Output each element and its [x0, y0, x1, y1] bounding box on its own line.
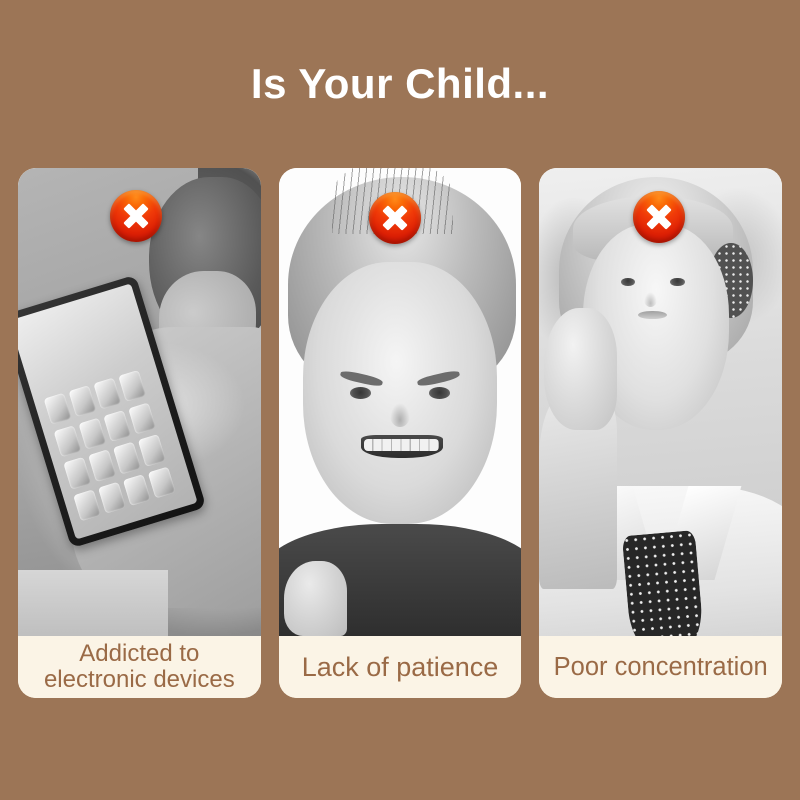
card-addicted-to-electronic-devices[interactable]: Addicted to electronic devices: [18, 168, 261, 698]
caption-label: Addicted to electronic devices: [18, 641, 261, 693]
card-clip: Addicted to electronic devices: [18, 168, 261, 698]
app-icon: [147, 466, 175, 498]
caption-bar: Poor concentration: [539, 636, 782, 698]
app-icon: [137, 434, 165, 466]
eye-left: [621, 278, 636, 287]
eyebrow-right: [417, 370, 461, 388]
app-icon: [73, 489, 101, 521]
boy-face-shape: [303, 262, 497, 524]
eye-left: [350, 387, 371, 399]
x-mark-glyph: [646, 204, 673, 231]
caption-label: Lack of patience: [302, 653, 499, 681]
eye-right: [670, 278, 685, 287]
eye-right: [429, 387, 450, 399]
app-icon: [113, 442, 141, 474]
app-icon: [53, 425, 81, 457]
app-icon: [103, 409, 131, 441]
app-icon: [63, 457, 91, 489]
nose-shape: [644, 292, 657, 306]
lips-shape: [638, 311, 667, 319]
app-icon: [78, 417, 106, 449]
page-title: Is Your Child...: [251, 63, 549, 105]
boy-hand-shape: [284, 561, 347, 636]
card-clip: Lack of patience: [279, 168, 522, 698]
nose-shape: [390, 403, 409, 427]
app-icon: [118, 370, 146, 402]
caption-label: Poor concentration: [554, 654, 768, 681]
app-icon: [128, 402, 156, 434]
app-icon-grid: [43, 370, 175, 522]
mouth-shape: [361, 435, 443, 459]
floor-shape: [18, 570, 168, 636]
eyebrow-left: [339, 370, 383, 388]
app-icon: [88, 449, 116, 481]
red-x-icon: [633, 191, 685, 243]
x-mark-glyph: [381, 205, 408, 232]
caption-bar: Addicted to electronic devices: [18, 636, 261, 698]
app-icon: [122, 474, 150, 506]
polka-dot-bow-tie: [622, 530, 705, 636]
teeth-detail: [364, 439, 439, 451]
card-lack-of-patience[interactable]: Lack of patience: [279, 168, 522, 698]
cards-row: Addicted to electronic devices: [18, 168, 782, 698]
x-mark-glyph: [123, 203, 150, 230]
caption-bar: Lack of patience: [279, 636, 522, 698]
caption-line-2: electronic devices: [44, 666, 235, 693]
red-x-icon: [110, 190, 162, 242]
app-icon: [98, 481, 126, 513]
card-poor-concentration[interactable]: Poor concentration: [539, 168, 782, 698]
app-icon: [43, 392, 71, 424]
app-icon: [68, 385, 96, 417]
caption-line-1: Addicted to: [79, 640, 199, 667]
header: Is Your Child...: [0, 0, 800, 150]
girl-hand-shape: [544, 308, 617, 430]
card-clip: Poor concentration: [539, 168, 782, 698]
red-x-icon: [369, 192, 421, 244]
app-icon: [93, 377, 121, 409]
